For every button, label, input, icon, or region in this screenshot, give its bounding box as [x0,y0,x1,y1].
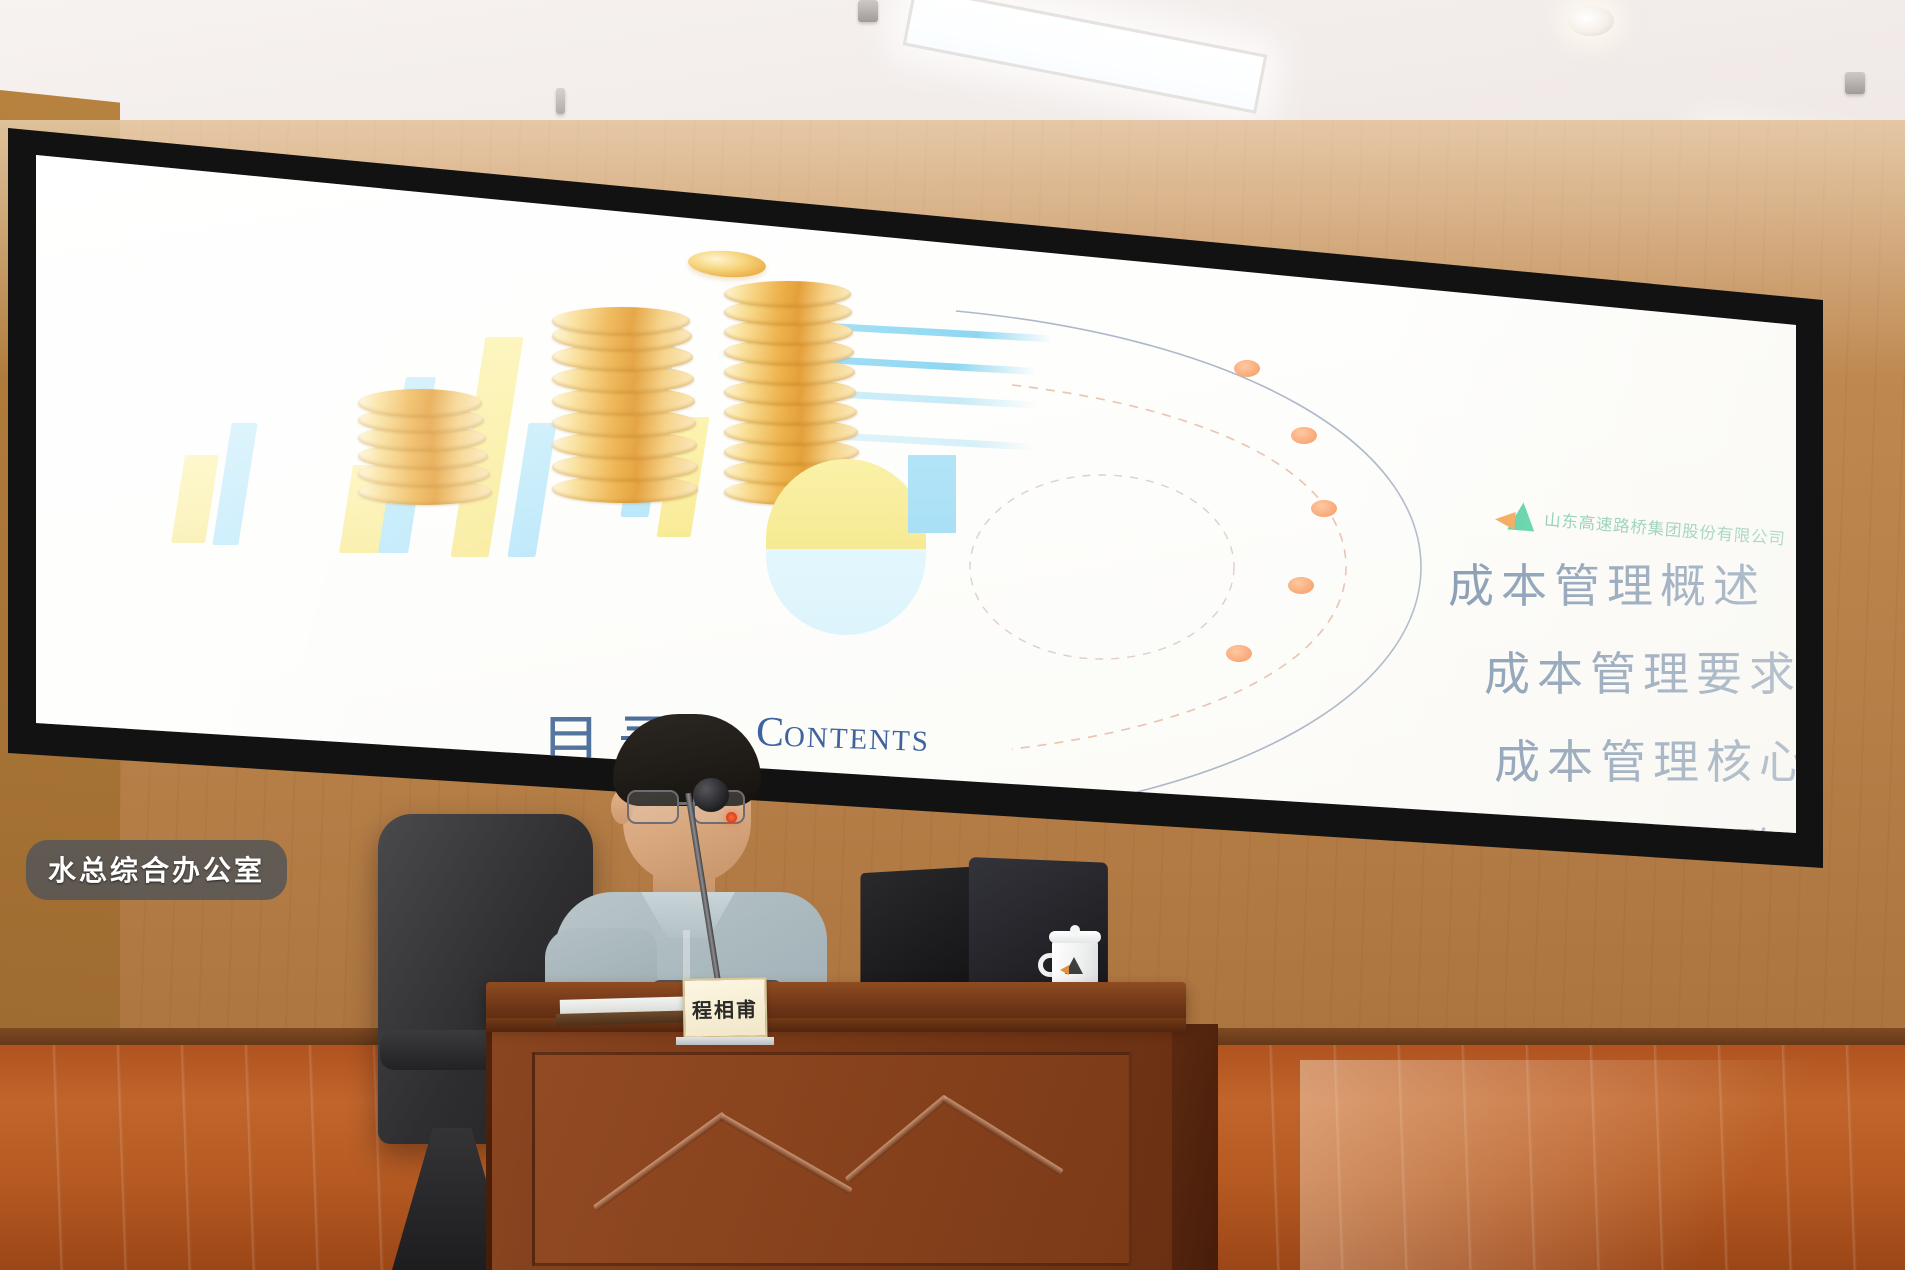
agenda-dot-5 [1226,645,1252,662]
wooden-podium [492,1030,1172,1270]
desk-nameplate: 程相甫 [682,977,767,1038]
agenda-list: 成本管理概述 成本管理要求 成本管理核心 成本归集思路 节本案例 [1366,550,1796,833]
agenda-item-2: 成本管理要求 [1484,638,1796,704]
agenda-dot-1 [1234,360,1260,377]
agenda-dot-4 [1288,577,1314,594]
conference-room-scene: 山东高速路桥集团股份有限公司 目录 CONTENTS 成本管理概述 成本管理要求… [0,0,1905,1270]
broadcast-overlay-badge: 水总综合办公室 [26,840,287,900]
microphone-status-led [726,812,737,823]
agenda-item-1: 成本管理概述 [1448,550,1796,616]
mug-logo-accent-icon [1060,965,1069,975]
deco-bar-blue-1 [212,423,257,545]
microphone-head [693,778,729,812]
sprinkler-head-small [556,88,565,114]
agenda-item-3: 成本管理核心 [1494,726,1796,792]
nameplate-stand [676,1037,774,1045]
floor-reflection [1300,1060,1905,1270]
podium-right-side [1168,1024,1218,1270]
deco-coin-flat [687,248,767,279]
company-name-text: 山东高速路桥集团股份有限公司 [1543,506,1786,549]
coin-stack-medium [552,307,702,503]
deco-pie-slice-cyan [766,547,926,635]
podium-motif-seg-3 [845,1094,949,1183]
podium-motif-seg-2 [719,1113,852,1194]
agenda-dot-2 [1291,427,1317,444]
company-logo-mark-icon [1494,500,1536,531]
company-logo: 山东高速路桥集团股份有限公司 [1494,500,1787,551]
sprinkler-head [858,0,878,22]
sprinkler-head-right [1845,72,1865,94]
office-chair-armrest [380,1030,500,1070]
deco-bar-yellow-1 [171,455,219,543]
nameplate-text: 程相甫 [692,993,758,1023]
deco-bar-blue-3 [507,423,556,557]
agenda-dot-3 [1311,500,1337,517]
mug-lid-knob [1070,925,1080,935]
coin-stack-short [358,383,494,501]
podium-motif-seg-1 [593,1112,727,1212]
podium-front-panel [532,1052,1132,1266]
podium-motif-seg-4 [941,1096,1063,1176]
ceiling-spotlight [1568,6,1614,36]
